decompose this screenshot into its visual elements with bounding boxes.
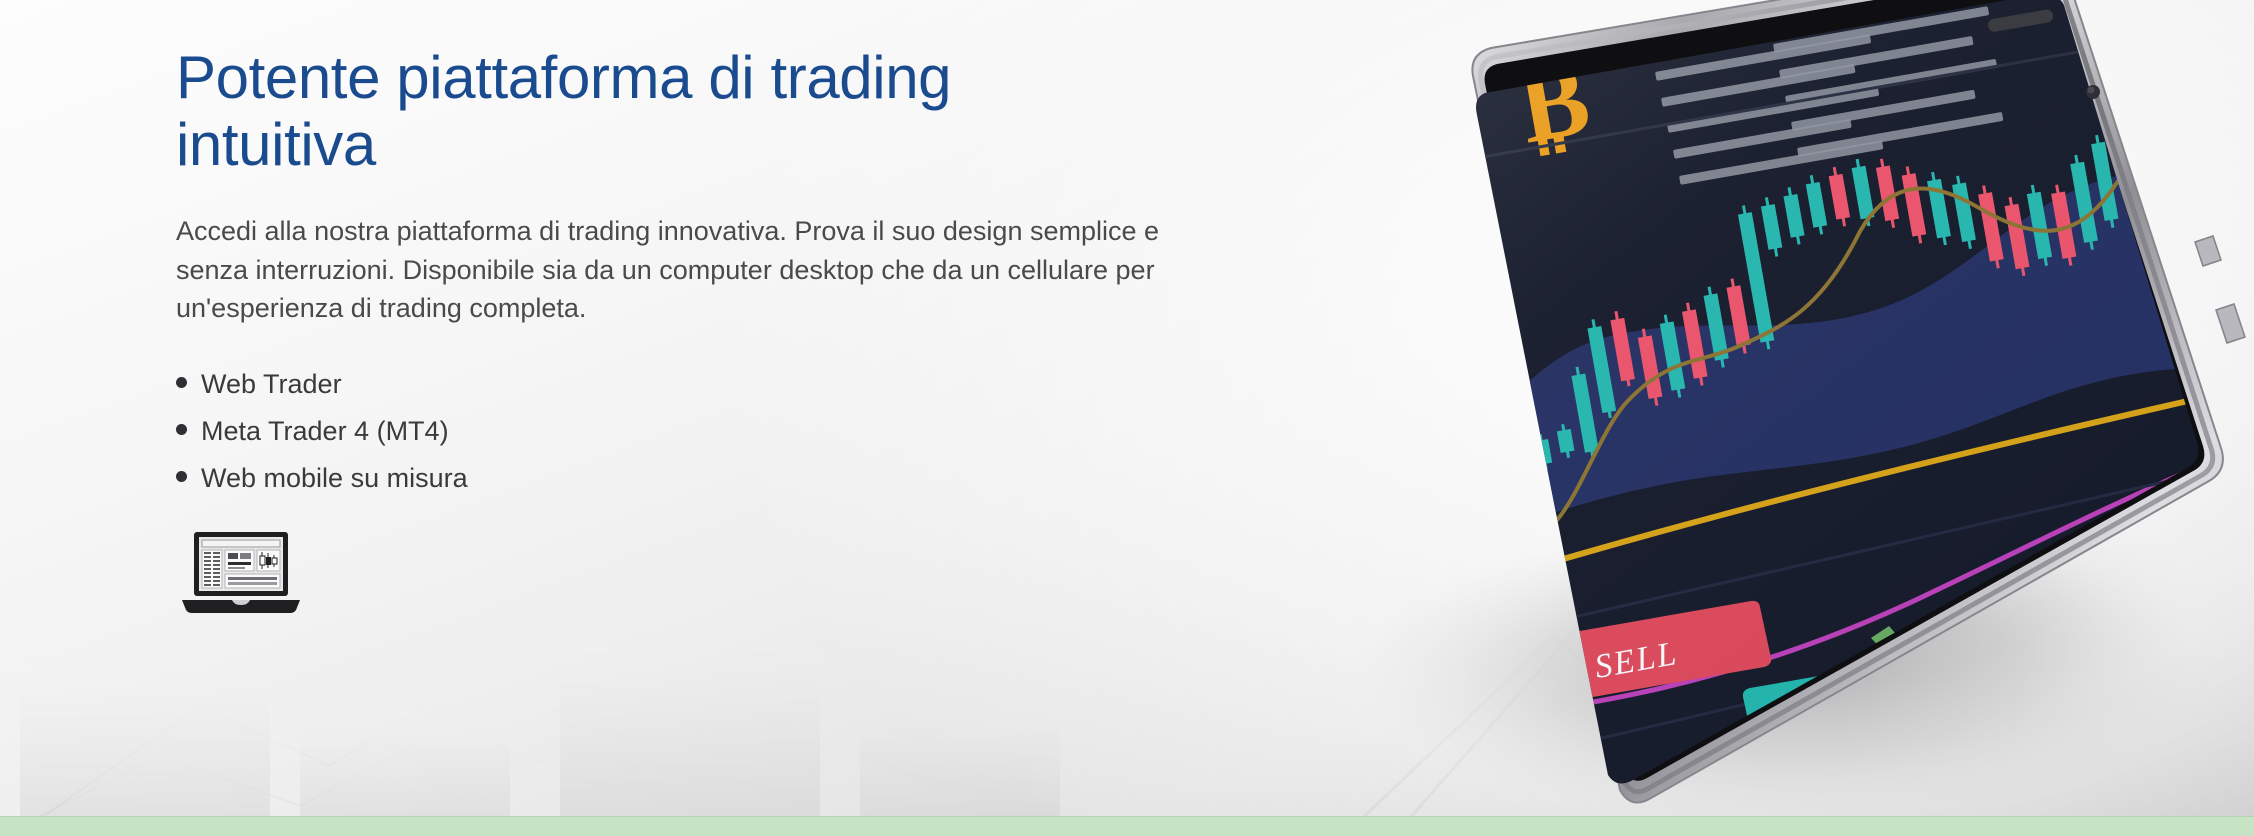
bullet-dot-icon <box>176 377 187 388</box>
feature-label: Web mobile su misura <box>201 465 468 492</box>
hero-copy: Potente piattaforma di trading intuitiva… <box>176 44 1186 621</box>
bullet-dot-icon <box>176 471 187 482</box>
power-button <box>2216 304 2245 343</box>
bottom-accent-strip <box>0 816 2254 836</box>
smartphone-mockup: ₿ <box>1185 0 2254 836</box>
feature-list: Web Trader Meta Trader 4 (MT4) Web mobil… <box>176 361 1186 502</box>
volume-button <box>2195 236 2221 266</box>
list-item: Meta Trader 4 (MT4) <box>176 408 1186 455</box>
feature-label: Meta Trader 4 (MT4) <box>201 418 449 445</box>
list-item: Web Trader <box>176 361 1186 408</box>
page-title: Potente piattaforma di trading intuitiva <box>176 44 1166 178</box>
laptop-trading-dashboard-icon <box>178 530 304 616</box>
hero-section: Potente piattaforma di trading intuitiva… <box>0 0 2254 836</box>
feature-label: Web Trader <box>201 371 342 398</box>
hero-description: Accedi alla nostra piattaforma di tradin… <box>176 212 1176 327</box>
list-item: Web mobile su misura <box>176 455 1186 502</box>
bullet-dot-icon <box>176 424 187 435</box>
